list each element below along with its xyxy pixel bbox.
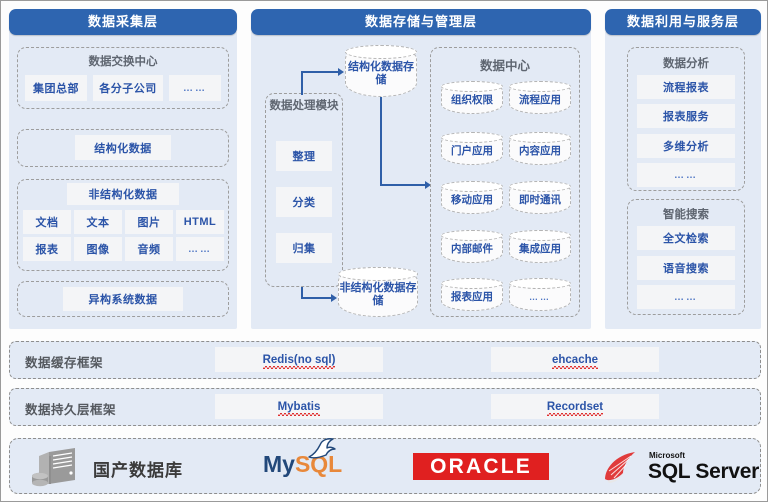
- dc-label-internal-mail: 内部邮件: [451, 239, 493, 255]
- chip-subsidiaries[interactable]: 各分子公司: [93, 75, 163, 101]
- dc-label-report-app: 报表应用: [451, 287, 493, 303]
- data-process-module-label: 数据处理模块: [265, 99, 343, 113]
- chip-multidimensional-analysis[interactable]: 多维分析: [637, 134, 735, 158]
- sqlserver-icon: [601, 449, 645, 485]
- chip-image-pic[interactable]: 图片: [125, 210, 173, 234]
- dc-cyl-process-app[interactable]: 流程应用: [509, 81, 571, 114]
- chip-recordset[interactable]: Recordset: [491, 394, 659, 419]
- chip-mybatis[interactable]: Mybatis: [215, 394, 383, 419]
- service-layer-title: 数据利用与服务层: [605, 9, 761, 35]
- unstructured-store-label: 非结构化数据存储: [339, 276, 417, 308]
- arrow-line-process-to-structured-v: [301, 71, 303, 95]
- chip-analysis-more[interactable]: ……: [637, 163, 735, 187]
- chip-search-more[interactable]: ……: [637, 285, 735, 309]
- chip-html[interactable]: HTML: [176, 210, 224, 234]
- chip-heterogeneous-data[interactable]: 异构系统数据: [63, 287, 183, 311]
- dc-cyl-integration-app[interactable]: 集成应用: [509, 230, 571, 263]
- storage-layer-title: 数据存储与管理层: [251, 9, 591, 35]
- dc-cyl-instant-messaging[interactable]: 即时通讯: [509, 181, 571, 214]
- recordset-text: Recordset: [547, 401, 603, 413]
- dc-cyl-more[interactable]: ……: [509, 278, 571, 311]
- data-analysis-label: 数据分析: [627, 55, 745, 71]
- dc-label-integration-app: 集成应用: [519, 239, 561, 255]
- intelligent-search-label: 智能搜索: [627, 206, 745, 222]
- sqlserver-brand-text: Microsoft: [649, 451, 685, 460]
- dc-label-process-app: 流程应用: [519, 90, 561, 106]
- dc-cyl-report-app[interactable]: 报表应用: [441, 278, 503, 311]
- data-center-label: 数据中心: [430, 55, 580, 74]
- chip-collect[interactable]: 归集: [276, 233, 332, 263]
- server-icon: [31, 448, 83, 488]
- ehcache-text: ehcache: [552, 354, 598, 366]
- arrow-line-structured-to-center-v: [380, 97, 382, 185]
- dc-label-instant-messaging: 即时通讯: [519, 190, 561, 206]
- dc-label-portal-app: 门户应用: [451, 141, 493, 157]
- mysql-logo: MySQL: [263, 451, 342, 478]
- dc-cyl-portal-app[interactable]: 门户应用: [441, 132, 503, 165]
- dc-label-more: ……: [529, 287, 551, 303]
- sqlserver-name-text: SQL Server: [648, 460, 759, 484]
- unstructured-data-label: 非结构化数据: [67, 183, 179, 205]
- dc-cyl-content-app[interactable]: 内容应用: [509, 132, 571, 165]
- cache-framework-label: 数据缓存框架: [25, 352, 103, 371]
- chip-text[interactable]: 文本: [74, 210, 122, 234]
- data-exchange-center-label: 数据交换中心: [17, 53, 229, 69]
- chip-group-hq[interactable]: 集团总部: [25, 75, 87, 101]
- arrow-head-to-unstructured-store: [331, 294, 337, 302]
- oracle-text: ORACLE: [430, 455, 532, 479]
- architecture-diagram: 数据采集层 数据交换中心 集团总部 各分子公司 …… 结构化数据 非结构化数据 …: [0, 0, 768, 502]
- chip-classify[interactable]: 分类: [276, 187, 332, 217]
- chip-graphic[interactable]: 图像: [74, 237, 122, 261]
- dc-cyl-org-permission[interactable]: 组织权限: [441, 81, 503, 114]
- chip-report[interactable]: 报表: [23, 237, 71, 261]
- acquisition-layer-title: 数据采集层: [9, 9, 237, 35]
- chip-structured-data[interactable]: 结构化数据: [75, 135, 171, 160]
- chip-exchange-more[interactable]: ……: [169, 75, 221, 101]
- dc-cyl-mobile-app[interactable]: 移动应用: [441, 181, 503, 214]
- arrow-line-process-to-unstructured-h: [301, 297, 331, 299]
- chip-process-report[interactable]: 流程报表: [637, 75, 735, 99]
- arrow-line-process-to-structured-h: [301, 71, 338, 73]
- chip-organize[interactable]: 整理: [276, 141, 332, 171]
- dc-label-content-app: 内容应用: [519, 141, 561, 157]
- arrow-line-structured-to-center-h: [380, 184, 425, 186]
- chip-doc[interactable]: 文档: [23, 210, 71, 234]
- persistence-framework-label: 数据持久层框架: [25, 399, 116, 418]
- unstructured-data-store-cylinder[interactable]: 非结构化数据存储: [338, 267, 418, 317]
- oracle-logo: ORACLE: [413, 453, 549, 480]
- chip-voice-search[interactable]: 语音搜索: [637, 256, 735, 280]
- chip-fulltext-search[interactable]: 全文检索: [637, 226, 735, 250]
- chip-audio[interactable]: 音频: [125, 237, 173, 261]
- domestic-database-label: 国产数据库: [93, 456, 183, 481]
- redis-text: Redis(no sql): [263, 354, 336, 366]
- mybatis-text: Mybatis: [278, 401, 321, 413]
- chip-redis[interactable]: Redis(no sql): [215, 347, 383, 372]
- structured-data-store-cylinder[interactable]: 结构化数据存储: [345, 45, 417, 97]
- chip-unstructured-more[interactable]: ……: [176, 237, 224, 261]
- structured-store-label: 结构化数据存储: [346, 55, 416, 87]
- chip-report-service[interactable]: 报表服务: [637, 104, 735, 128]
- mysql-dolphin-icon: [307, 437, 339, 459]
- dc-cyl-internal-mail[interactable]: 内部邮件: [441, 230, 503, 263]
- arrow-head-to-structured-store: [338, 68, 344, 76]
- mysql-text-my: My: [263, 451, 295, 477]
- chip-ehcache[interactable]: ehcache: [491, 347, 659, 372]
- dc-label-mobile-app: 移动应用: [451, 190, 493, 206]
- dc-label-org-permission: 组织权限: [451, 90, 493, 106]
